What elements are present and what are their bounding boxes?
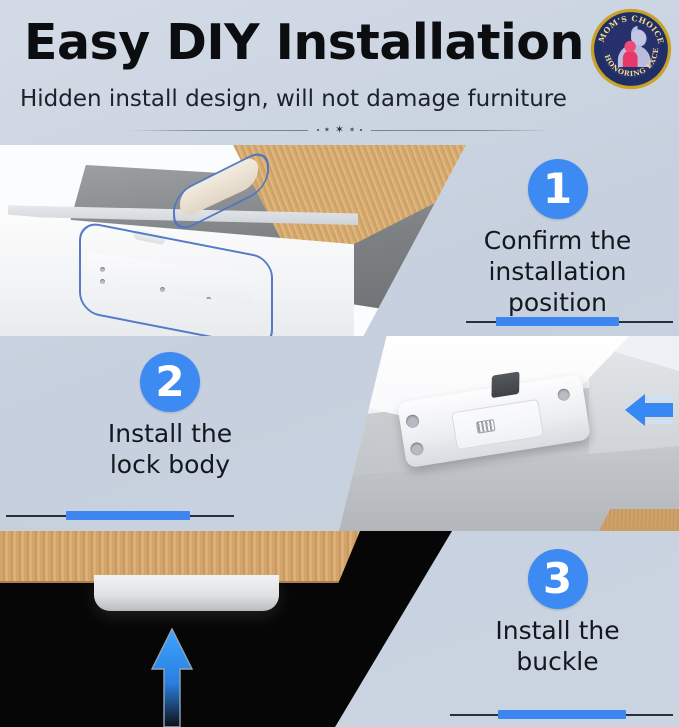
step-number-3: 3 — [528, 549, 588, 609]
step-3-text: 3 Install the buckle — [436, 531, 679, 727]
port-hole — [409, 441, 424, 456]
step-2-caption: Install the lock body — [108, 419, 232, 481]
divider-dot — [317, 129, 319, 131]
step-3-divider — [450, 710, 673, 720]
page-subtitle: Hidden install design, will not damage f… — [20, 86, 567, 112]
direction-arrow-icon — [595, 390, 673, 430]
step-panel-1: 1 Confirm the installation position — [0, 145, 679, 336]
direction-arrow-icon — [150, 627, 194, 727]
divider-line-left — [128, 130, 308, 131]
battery-cover — [451, 399, 544, 450]
step-2-divider — [6, 511, 234, 521]
buckle-part — [94, 575, 279, 611]
step-1-image — [0, 145, 466, 336]
star-icon-small: ✶ — [324, 127, 330, 134]
divider-accent-bar — [498, 710, 626, 719]
header: Easy DIY Installation Hidden install des… — [0, 0, 679, 145]
lock-bolt — [491, 371, 519, 398]
divider-accent-bar — [496, 317, 619, 326]
port-hole — [405, 414, 420, 429]
divider-dot — [360, 129, 362, 131]
battery-icon — [476, 419, 496, 434]
divider-accent-bar — [66, 511, 190, 520]
star-icon-small: ✶ — [349, 127, 355, 134]
screw-hole — [557, 388, 571, 402]
step-panel-2: 2 Install the lock body — [0, 336, 679, 531]
divider-stars: ✶ ✶ ✶ — [308, 125, 371, 136]
award-seal-icon: MOM'S CHOICE AWARDS HONORING EXCELLENCE — [590, 8, 672, 90]
step-1-text: 1 Confirm the installation position — [436, 145, 679, 336]
step-3-caption: Install the buckle — [495, 616, 619, 678]
star-divider: ✶ ✶ ✶ — [0, 122, 679, 138]
page-title: Easy DIY Installation — [24, 18, 584, 67]
step-1-caption: Confirm the installation position — [436, 226, 679, 318]
step-number-2: 2 — [140, 352, 200, 412]
divider-line-right — [371, 130, 551, 131]
infographic-page: Easy DIY Installation Hidden install des… — [0, 0, 679, 727]
step-2-image — [339, 336, 679, 531]
step-2-text: 2 Install the lock body — [0, 336, 340, 531]
step-3-image — [0, 531, 452, 727]
star-icon-large: ✶ — [335, 125, 344, 136]
wood-strip — [599, 509, 679, 531]
moms-choice-awards-badge: MOM'S CHOICE AWARDS HONORING EXCELLENCE — [590, 8, 672, 90]
step-1-divider — [466, 317, 673, 327]
step-panel-3: 3 Install the buckle — [0, 531, 679, 727]
step-number-1: 1 — [528, 159, 588, 219]
